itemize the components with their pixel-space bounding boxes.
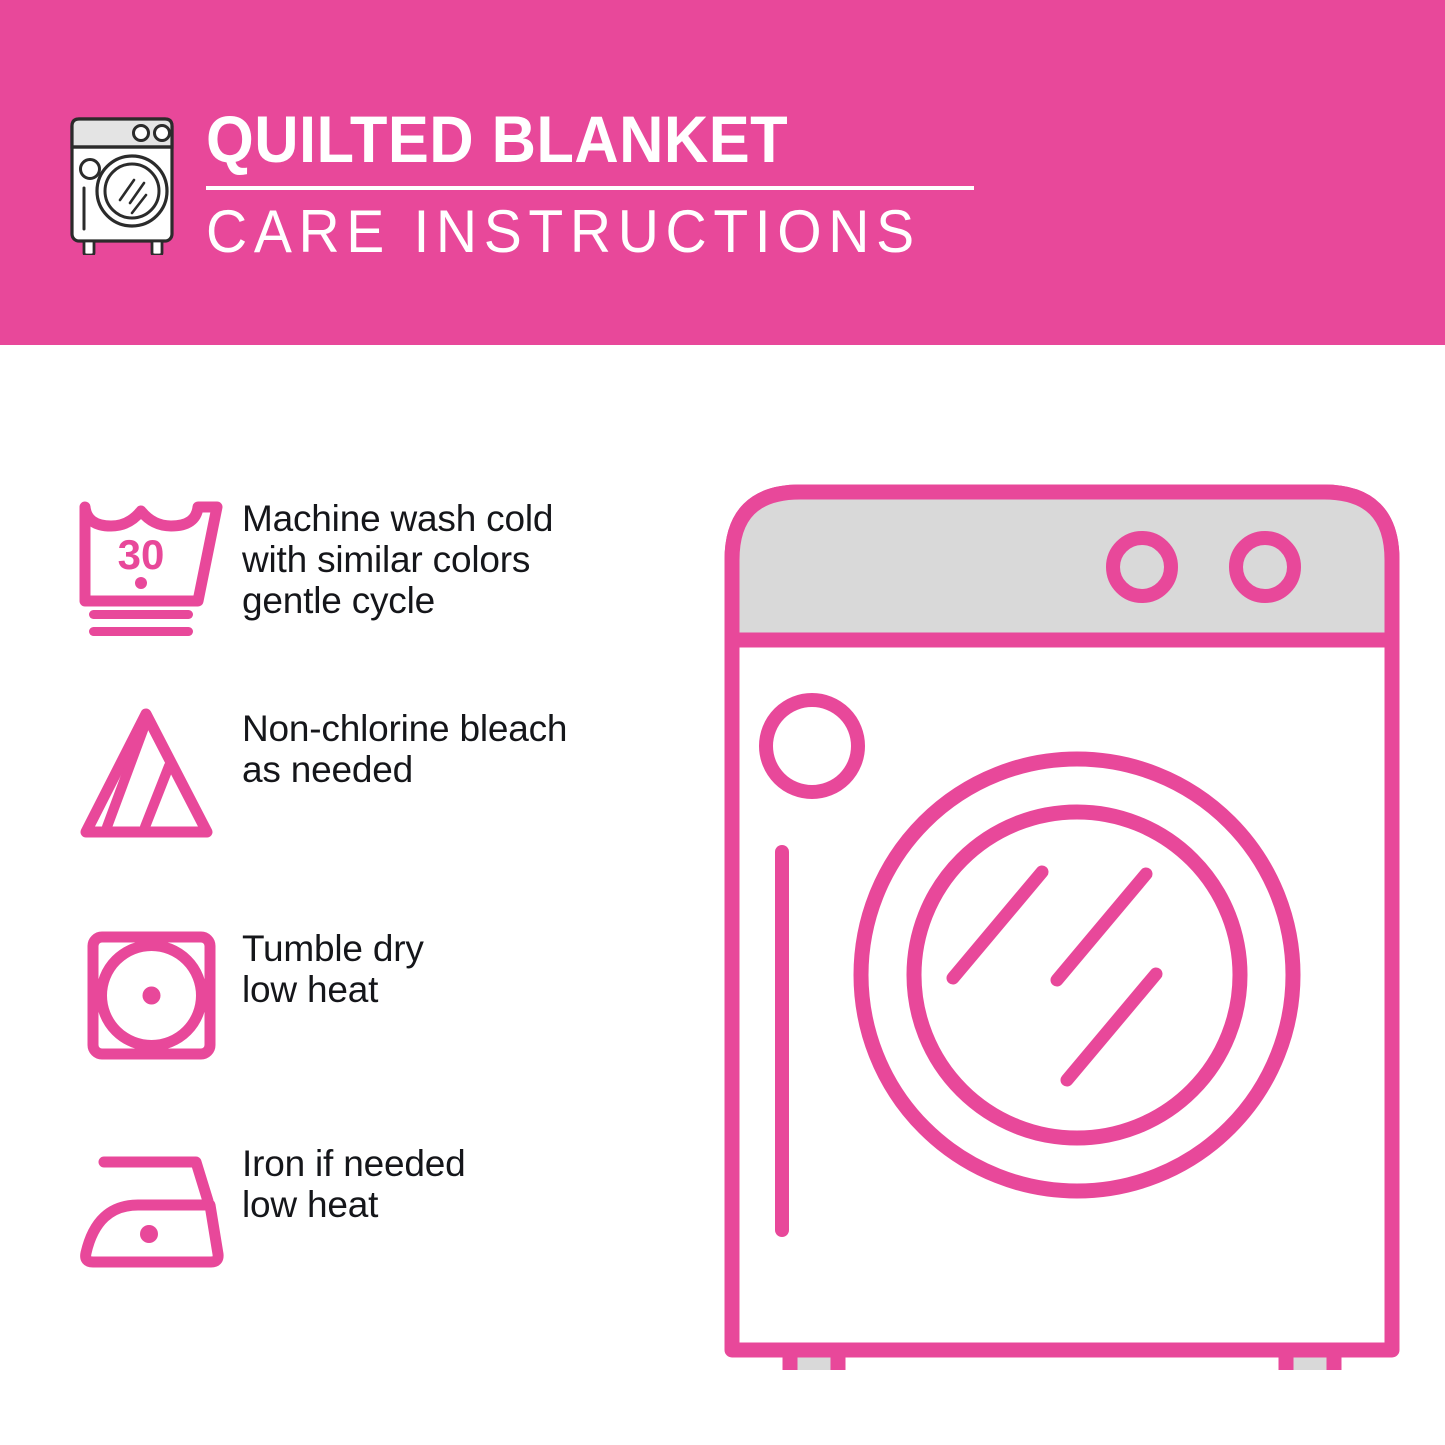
care-line: low heat xyxy=(242,1184,465,1225)
header-text-block: QUILTED BLANKET CARE INSTRUCTIONS xyxy=(206,104,996,264)
knob-left xyxy=(1113,538,1171,596)
care-line: Iron if needed xyxy=(242,1143,465,1184)
care-line: gentle cycle xyxy=(242,580,553,621)
iron-low-heat-icon xyxy=(62,1135,242,1285)
care-row-tumble-dry: Tumble dry low heat xyxy=(62,920,682,1070)
care-instruction-list: 30 Machine wash cold with similar colors… xyxy=(0,345,700,1445)
page-title: QUILTED BLANKET xyxy=(206,104,941,174)
care-row-bleach: Non-chlorine bleach as needed xyxy=(62,700,682,850)
care-line: Non-chlorine bleach xyxy=(242,708,567,749)
title-divider xyxy=(206,186,974,190)
care-row-iron: Iron if needed low heat xyxy=(62,1135,682,1285)
care-label-tumble-dry: Tumble dry low heat xyxy=(242,920,424,1010)
care-instructions-page: QUILTED BLANKET CARE INSTRUCTIONS 30 xyxy=(0,0,1445,1445)
svg-text:30: 30 xyxy=(118,531,165,578)
care-label-machine-wash: Machine wash cold with similar colors ge… xyxy=(242,490,553,621)
leg-right xyxy=(1286,1350,1334,1370)
page-subtitle: CARE INSTRUCTIONS xyxy=(206,200,957,264)
care-label-iron: Iron if needed low heat xyxy=(242,1135,465,1225)
care-row-machine-wash: 30 Machine wash cold with similar colors… xyxy=(62,490,682,640)
care-line: with similar colors xyxy=(242,539,553,580)
care-label-bleach: Non-chlorine bleach as needed xyxy=(242,700,567,790)
header-banner: QUILTED BLANKET CARE INSTRUCTIONS xyxy=(0,0,1445,345)
detergent-port xyxy=(766,700,858,792)
care-line: low heat xyxy=(242,969,424,1010)
care-line: Machine wash cold xyxy=(242,498,553,539)
leg-left xyxy=(790,1350,838,1370)
non-chlorine-bleach-icon xyxy=(62,700,242,850)
washing-machine-icon xyxy=(58,103,188,255)
care-line: as needed xyxy=(242,749,567,790)
washing-machine-illustration xyxy=(712,470,1412,1370)
knob-right xyxy=(1236,538,1294,596)
tumble-dry-low-icon xyxy=(62,920,242,1070)
care-line: Tumble dry xyxy=(242,928,424,969)
machine-wash-30-gentle-icon: 30 xyxy=(62,490,242,640)
